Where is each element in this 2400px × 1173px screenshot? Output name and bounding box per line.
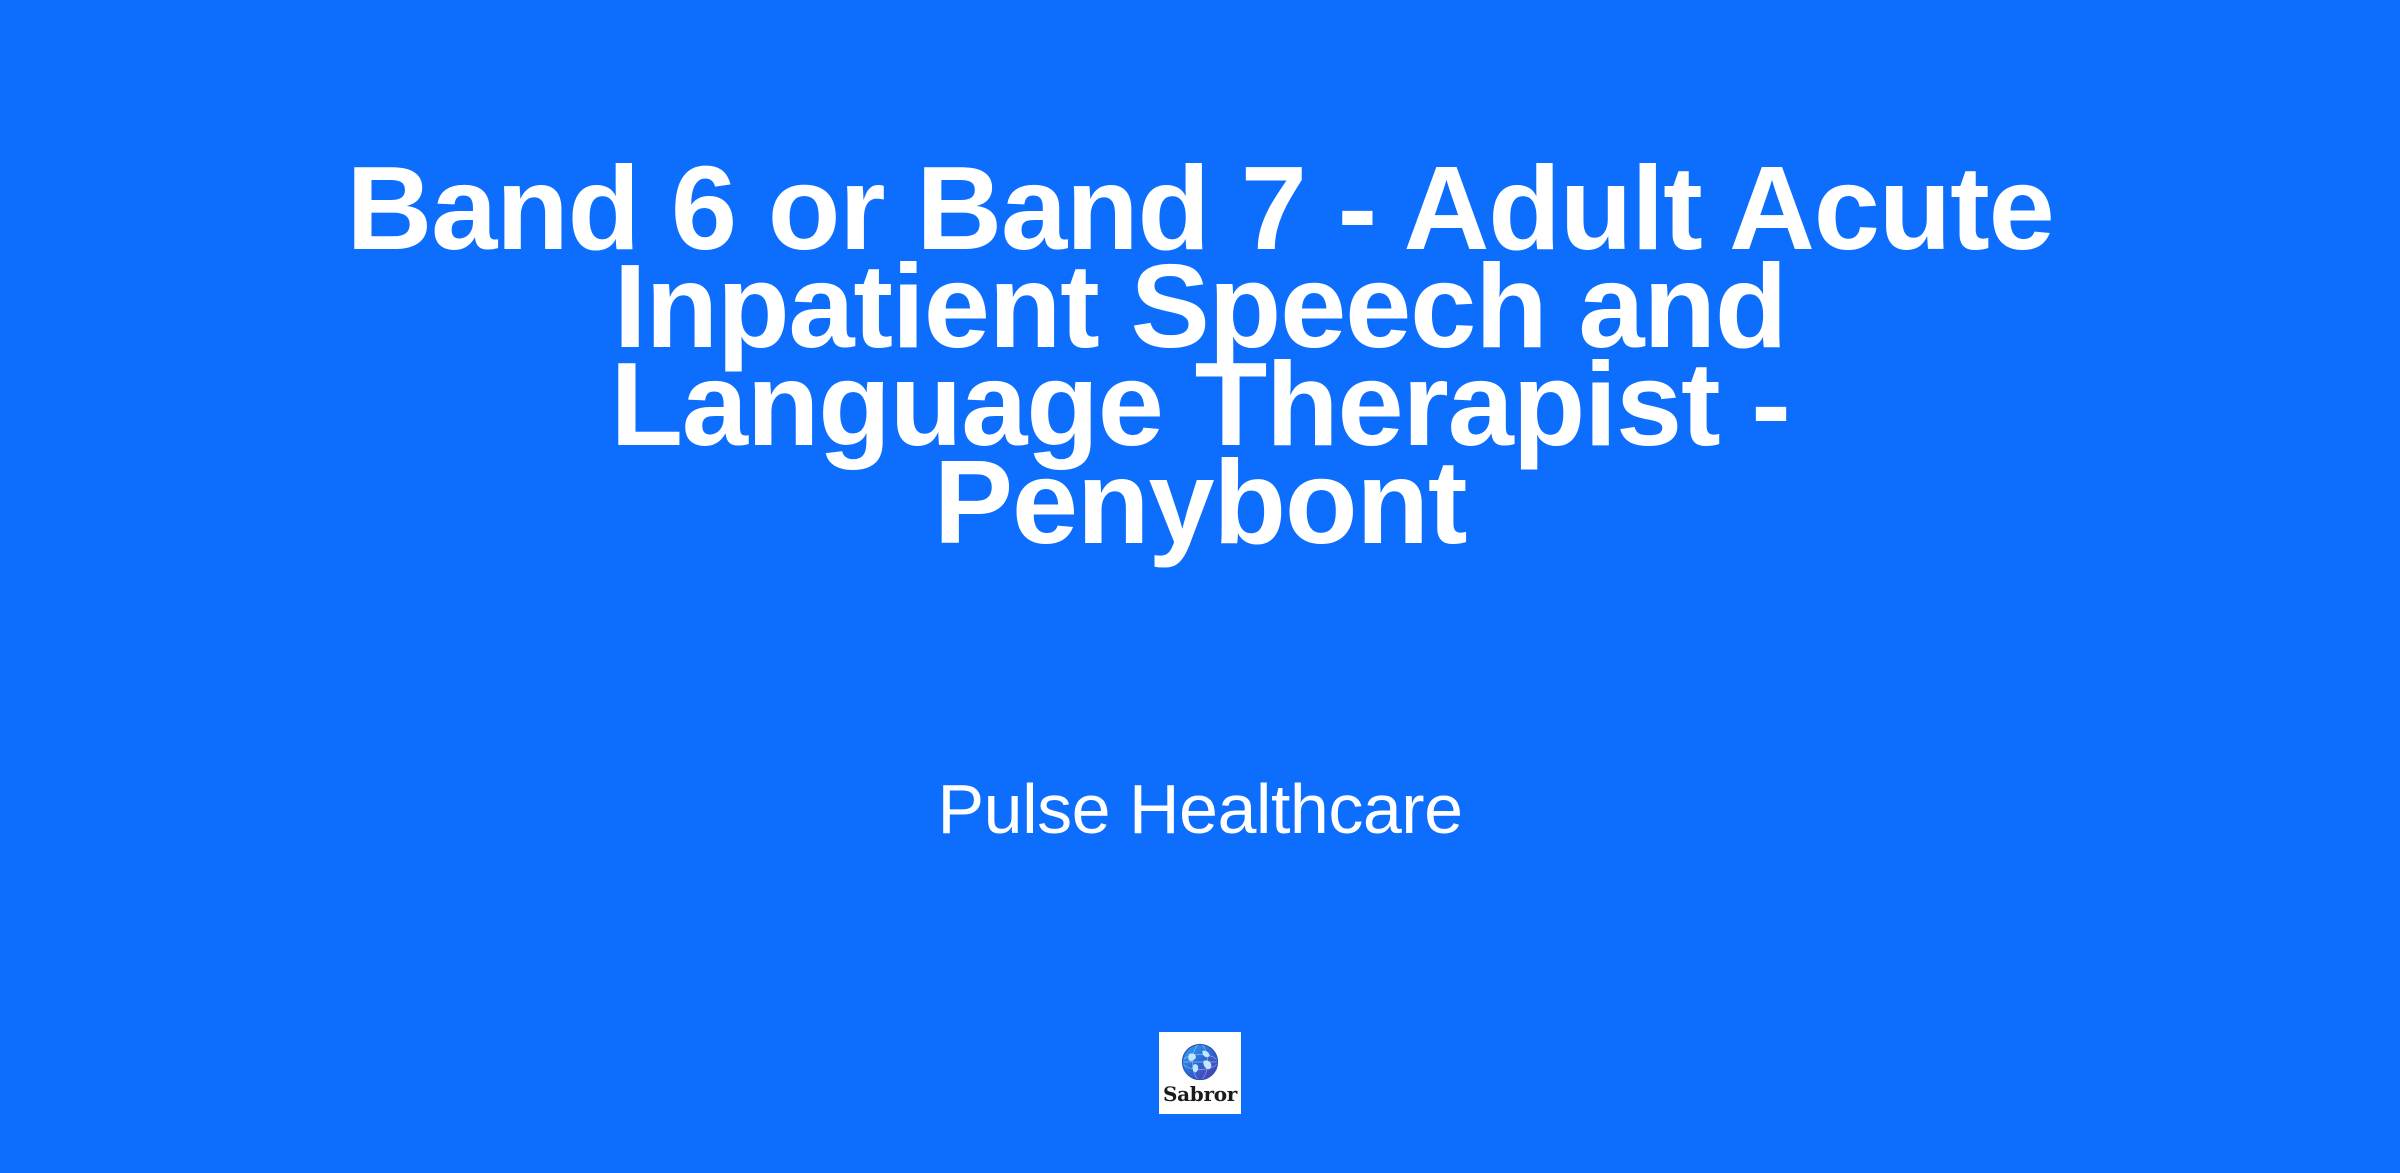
page-subtitle: Pulse Healthcare xyxy=(250,766,2150,852)
logo-wordmark: Sabror xyxy=(1163,1083,1237,1105)
share-card: Band 6 or Band 7 - Adult Acute Inpatient… xyxy=(0,0,2400,1173)
sabror-logo: Sabror xyxy=(1159,1032,1241,1114)
globe-icon xyxy=(1180,1042,1220,1082)
page-title: Band 6 or Band 7 - Adult Acute Inpatient… xyxy=(340,160,2060,552)
